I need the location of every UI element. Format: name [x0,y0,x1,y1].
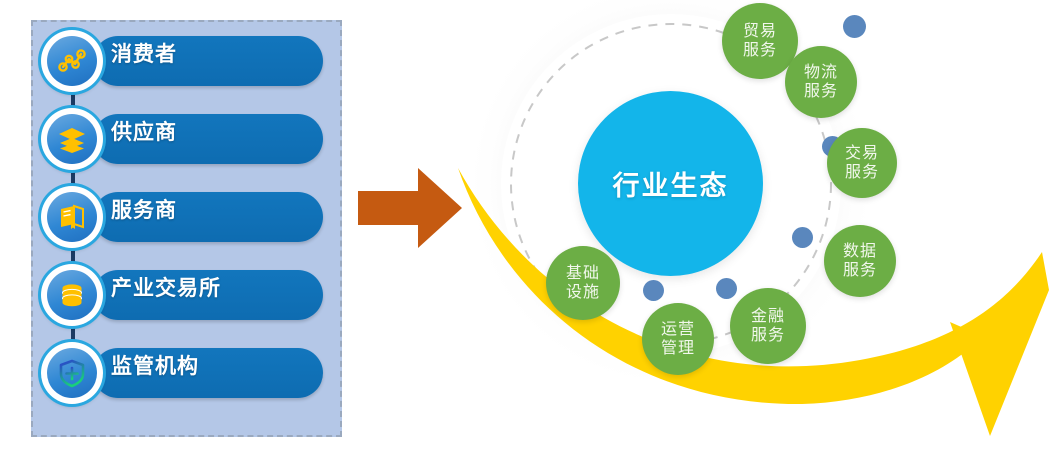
satellite-label-line1: 物流 [804,63,838,82]
shield-cross-icon-badge[interactable] [41,342,103,404]
open-book-icon [47,192,97,242]
satellite-node-data[interactable]: 数据服务 [824,225,896,297]
satellite-label-line2: 服务 [743,41,777,60]
satellite-label-line2: 服务 [804,82,838,101]
satellite-label-line2: 服务 [751,326,785,345]
role-item-3[interactable]: 服务商 [33,186,344,248]
accent-dot-4 [716,278,737,299]
shield-cross-icon [47,348,97,398]
value-chain-panel: 消费者供应商服务商产业交易所监管机构 [31,20,342,437]
stacked-layers-icon [47,114,97,164]
role-label: 监管机构 [111,342,199,392]
role-item-1[interactable]: 消费者 [33,30,344,92]
network-nodes-icon [47,36,97,86]
network-nodes-icon-badge[interactable] [41,30,103,92]
satellite-node-finance[interactable]: 金融服务 [730,288,806,364]
role-label: 产业交易所 [111,264,221,314]
satellite-label-line1: 运营 [661,320,695,339]
core-node-label: 行业生态 [613,164,729,203]
satellite-node-logistics[interactable]: 物流服务 [785,46,857,118]
satellite-label-line2: 服务 [843,261,877,280]
role-label: 服务商 [111,186,177,236]
satellite-label-line1: 贸易 [743,22,777,41]
satellite-label-line1: 金融 [751,307,785,326]
role-item-2[interactable]: 供应商 [33,108,344,170]
satellite-label-line2: 服务 [845,163,879,182]
diagram-canvas: 消费者供应商服务商产业交易所监管机构 行业生态 [0,0,1049,454]
stacked-layers-icon-badge[interactable] [41,108,103,170]
role-item-5[interactable]: 监管机构 [33,342,344,404]
satellite-node-operation[interactable]: 运营管理 [642,303,714,375]
accent-dot-1 [843,15,866,38]
ecosystem-cluster: 行业生态 贸易服务物流服务交易服务数据服务金融服务运营管理基础设施 [430,0,1049,454]
open-book-icon-badge[interactable] [41,186,103,248]
accent-dot-5 [643,280,664,301]
satellite-label-line2: 设施 [566,283,600,302]
satellite-label-line1: 交易 [845,144,879,163]
satellite-node-exchange[interactable]: 交易服务 [827,128,897,198]
role-label: 供应商 [111,108,177,158]
satellite-label-line1: 数据 [843,242,877,261]
database-coins-icon [47,270,97,320]
satellite-label-line1: 基础 [566,264,600,283]
core-node-industry-ecosystem: 行业生态 [578,91,763,276]
role-label: 消费者 [111,30,177,80]
database-coins-icon-badge[interactable] [41,264,103,326]
accent-dot-3 [792,227,813,248]
role-item-4[interactable]: 产业交易所 [33,264,344,326]
satellite-node-infra[interactable]: 基础设施 [546,246,620,320]
satellite-label-line2: 管理 [661,339,695,358]
